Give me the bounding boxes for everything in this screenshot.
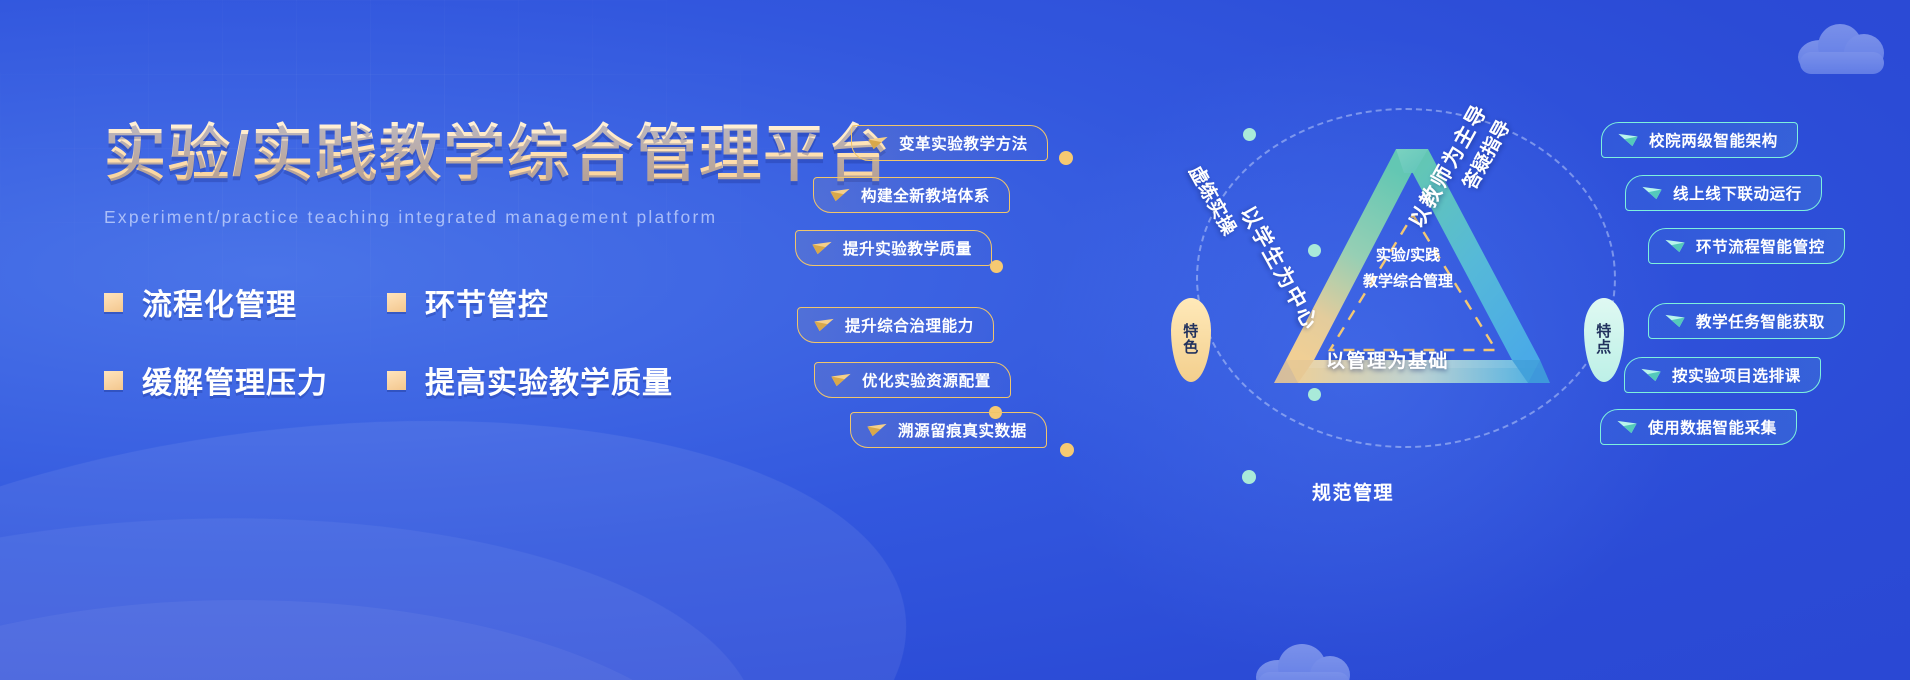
chip-left-2[interactable]: 构建全新教培体系 bbox=[813, 177, 1010, 213]
bullet-label: 缓解管理压力 bbox=[142, 358, 328, 402]
chip-label: 变革实验教学方法 bbox=[899, 132, 1028, 154]
bullet-square-icon bbox=[104, 371, 123, 390]
bullet-label: 提高实验教学质量 bbox=[425, 358, 673, 402]
paper-plane-icon bbox=[1664, 239, 1686, 253]
page-title: 实验/实践教学综合管理平台 bbox=[104, 118, 894, 191]
chip-label: 溯源留痕真实数据 bbox=[898, 419, 1027, 441]
paper-plane-icon bbox=[1616, 420, 1638, 434]
chip-right-6[interactable]: 使用数据智能采集 bbox=[1600, 409, 1797, 445]
chip-left-6[interactable]: 溯源留痕真实数据 bbox=[850, 412, 1047, 448]
chip-label: 环节流程智能管控 bbox=[1696, 235, 1825, 257]
paper-plane-icon bbox=[830, 373, 852, 387]
chip-label: 构建全新教培体系 bbox=[861, 184, 990, 206]
chip-right-1[interactable]: 校院两级智能架构 bbox=[1601, 122, 1798, 158]
paper-plane-icon bbox=[1664, 314, 1686, 328]
chip-label: 教学任务智能获取 bbox=[1696, 310, 1825, 332]
feature-bullet-list: 流程化管理 环节管控 缓解管理压力 提高实验教学质量 bbox=[104, 280, 894, 402]
outer-label-bottom: 规范管理 bbox=[1312, 478, 1394, 505]
orbit-dot bbox=[1060, 443, 1074, 457]
chip-left-3[interactable]: 提升实验教学质量 bbox=[795, 230, 992, 266]
paper-plane-icon bbox=[867, 136, 889, 150]
paper-plane-icon bbox=[1640, 368, 1662, 382]
chip-label: 提升综合治理能力 bbox=[845, 314, 974, 336]
chip-right-5[interactable]: 按实验项目选排课 bbox=[1624, 357, 1821, 393]
chip-label: 校院两级智能架构 bbox=[1649, 129, 1778, 151]
badge-right-line1: 特 bbox=[1596, 324, 1612, 340]
chip-left-5[interactable]: 优化实验资源配置 bbox=[814, 362, 1011, 398]
chip-right-3[interactable]: 环节流程智能管控 bbox=[1648, 228, 1845, 264]
bullet-square-icon bbox=[104, 293, 123, 312]
orbit-dot bbox=[1242, 470, 1256, 484]
chip-right-2[interactable]: 线上线下联动运行 bbox=[1625, 175, 1822, 211]
bullet-label: 流程化管理 bbox=[142, 280, 297, 324]
center-line-2: 教学综合管理 bbox=[1308, 269, 1508, 295]
list-item: 缓解管理压力 bbox=[104, 358, 387, 402]
orbit-dot bbox=[990, 260, 1003, 273]
hero-copy: 实验/实践教学综合管理平台 Experiment/practice teachi… bbox=[104, 118, 894, 402]
badge-feature-right: 特 点 bbox=[1584, 298, 1624, 382]
badge-right-line2: 点 bbox=[1596, 340, 1612, 356]
badge-left-line1: 特 bbox=[1183, 324, 1199, 340]
chip-label: 按实验项目选排课 bbox=[1672, 364, 1801, 386]
concept-diagram: 特 色 特 点 虚练实操 答疑指导 规范管理 bbox=[960, 0, 1910, 680]
chip-label: 优化实验资源配置 bbox=[862, 369, 991, 391]
triangle-center-text: 实验/实践 教学综合管理 bbox=[1308, 243, 1508, 296]
chip-label: 使用数据智能采集 bbox=[1648, 416, 1777, 438]
chip-left-1[interactable]: 变革实验教学方法 bbox=[851, 125, 1048, 161]
paper-plane-icon bbox=[1641, 186, 1663, 200]
triangle-base-label: 以管理为基础 bbox=[1326, 346, 1449, 373]
badge-left-line2: 色 bbox=[1183, 340, 1199, 356]
paper-plane-icon bbox=[811, 241, 833, 255]
badge-feature-left: 特 色 bbox=[1171, 298, 1211, 382]
page-subtitle: Experiment/practice teaching integrated … bbox=[104, 207, 894, 228]
chip-label: 线上线下联动运行 bbox=[1673, 182, 1802, 204]
bullet-label: 环节管控 bbox=[425, 280, 549, 324]
hero-banner: 实验/实践教学综合管理平台 Experiment/practice teachi… bbox=[0, 0, 1910, 680]
bullet-square-icon bbox=[387, 293, 406, 312]
paper-plane-icon bbox=[829, 188, 851, 202]
orbit-dot bbox=[1059, 151, 1073, 165]
chip-label: 提升实验教学质量 bbox=[843, 237, 972, 259]
bullet-square-icon bbox=[387, 371, 406, 390]
list-item: 流程化管理 bbox=[104, 280, 387, 324]
center-line-1: 实验/实践 bbox=[1308, 243, 1508, 269]
paper-plane-icon bbox=[1617, 133, 1639, 147]
chip-right-4[interactable]: 教学任务智能获取 bbox=[1648, 303, 1845, 339]
paper-plane-icon bbox=[813, 318, 835, 332]
chip-left-4[interactable]: 提升综合治理能力 bbox=[797, 307, 994, 343]
paper-plane-icon bbox=[866, 423, 888, 437]
